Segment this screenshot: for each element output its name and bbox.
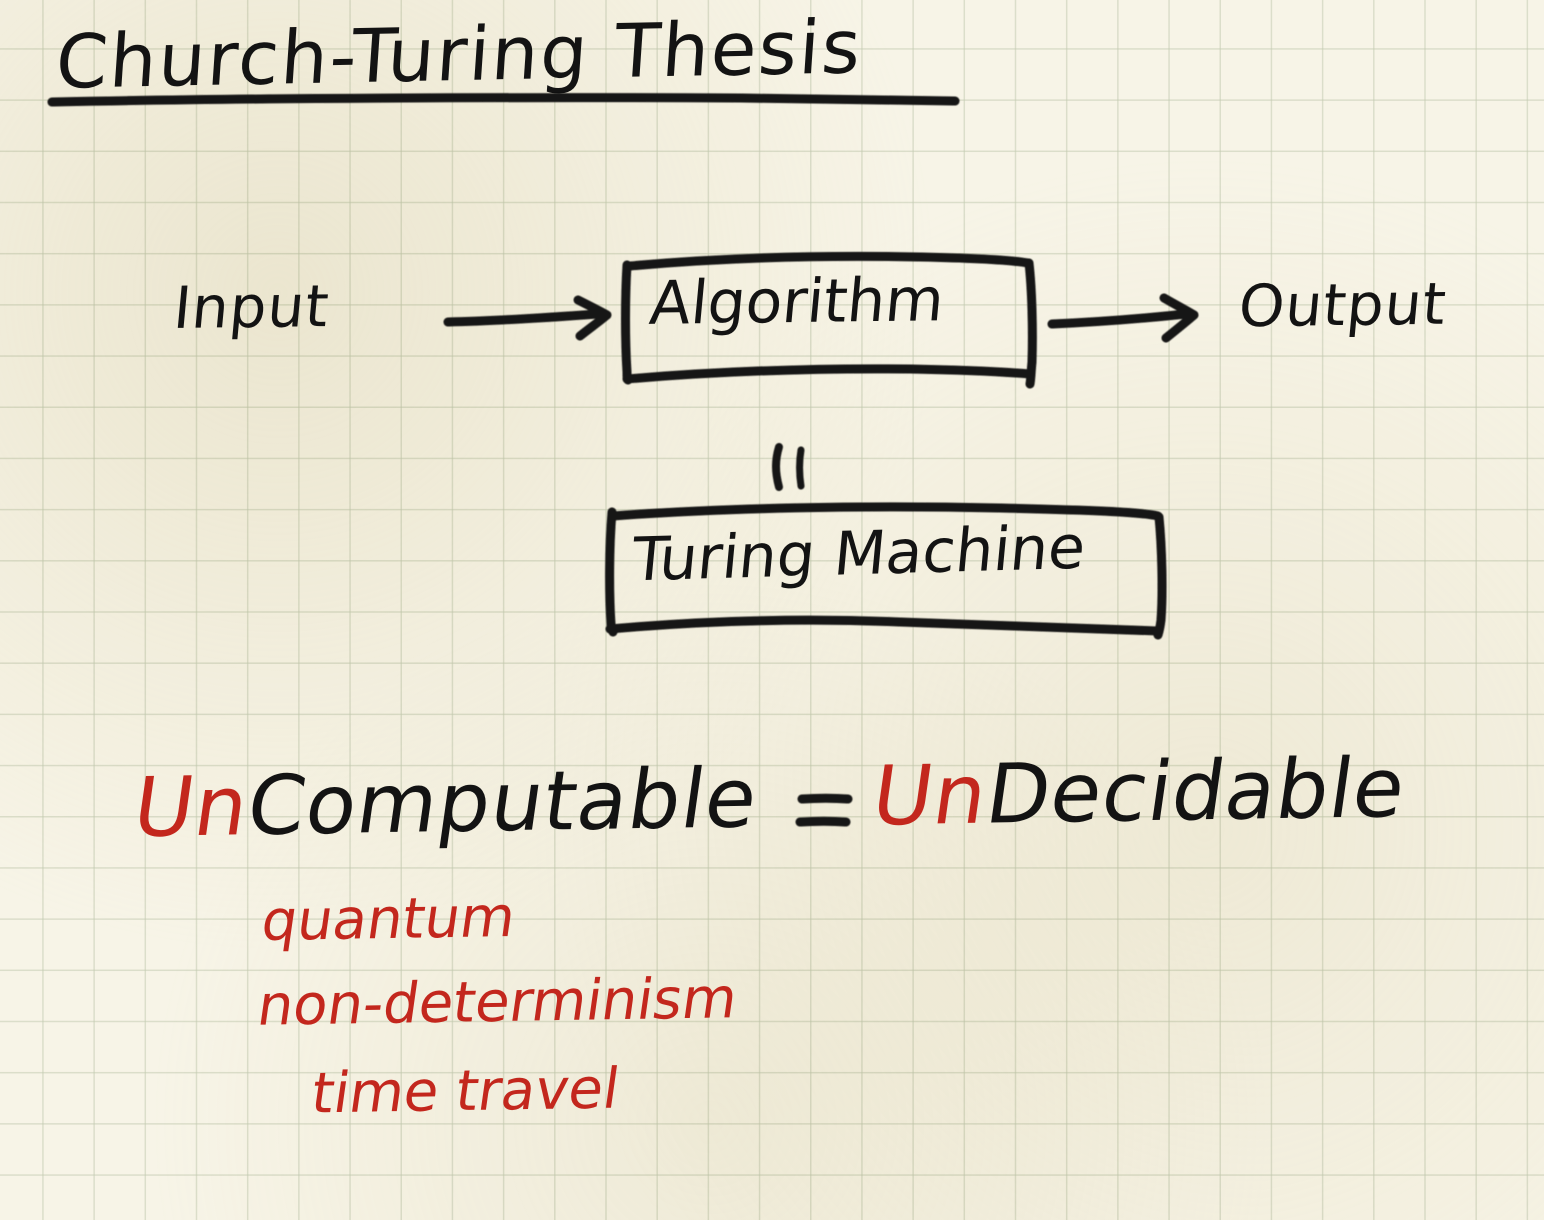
equivalence-stroke-left bbox=[776, 447, 779, 487]
list-item-non-determinism: non-determinism bbox=[254, 971, 741, 1035]
arrow-input-to-algorithm-shaft bbox=[448, 314, 598, 322]
paper-grain-texture bbox=[0, 0, 1544, 1220]
flow-label-turing-machine: Turing Machine bbox=[629, 518, 1088, 591]
page-title: Church-Turing Thesis bbox=[54, 10, 865, 100]
equivalence-stroke-right bbox=[800, 450, 802, 486]
list-item-time-travel: time travel bbox=[308, 1062, 623, 1123]
turing-machine-box-right bbox=[1158, 517, 1162, 635]
equation-row: UnComputableUnDecidable bbox=[128, 748, 1411, 850]
arrow-algorithm-to-output-head bbox=[1164, 298, 1194, 338]
ink-strokes-layer bbox=[0, 0, 1544, 1220]
list-item-quantum: quantum bbox=[258, 890, 519, 950]
flow-label-output: Output bbox=[1236, 275, 1449, 336]
equation-right-prefix: Un bbox=[866, 747, 994, 844]
arrow-algorithm-to-output-shaft bbox=[1052, 314, 1186, 324]
flow-label-input: Input bbox=[171, 277, 332, 337]
equation-left-prefix: Un bbox=[127, 759, 255, 856]
turing-machine-box-bottom bbox=[610, 620, 1158, 631]
arrow-input-to-algorithm-head bbox=[578, 300, 607, 336]
turing-machine-box-left bbox=[610, 512, 613, 632]
flow-label-algorithm: Algorithm bbox=[647, 270, 946, 334]
algorithm-box-top bbox=[630, 256, 1028, 266]
algorithm-box-left bbox=[626, 265, 629, 380]
equation-left-root: Computable bbox=[241, 751, 764, 854]
algorithm-box-right bbox=[1029, 263, 1032, 384]
algorithm-box-bottom bbox=[627, 369, 1030, 379]
equation-right-root: Decidable bbox=[980, 741, 1412, 843]
handwritten-note-canvas: Church-Turing Thesis bbox=[0, 0, 1544, 1220]
